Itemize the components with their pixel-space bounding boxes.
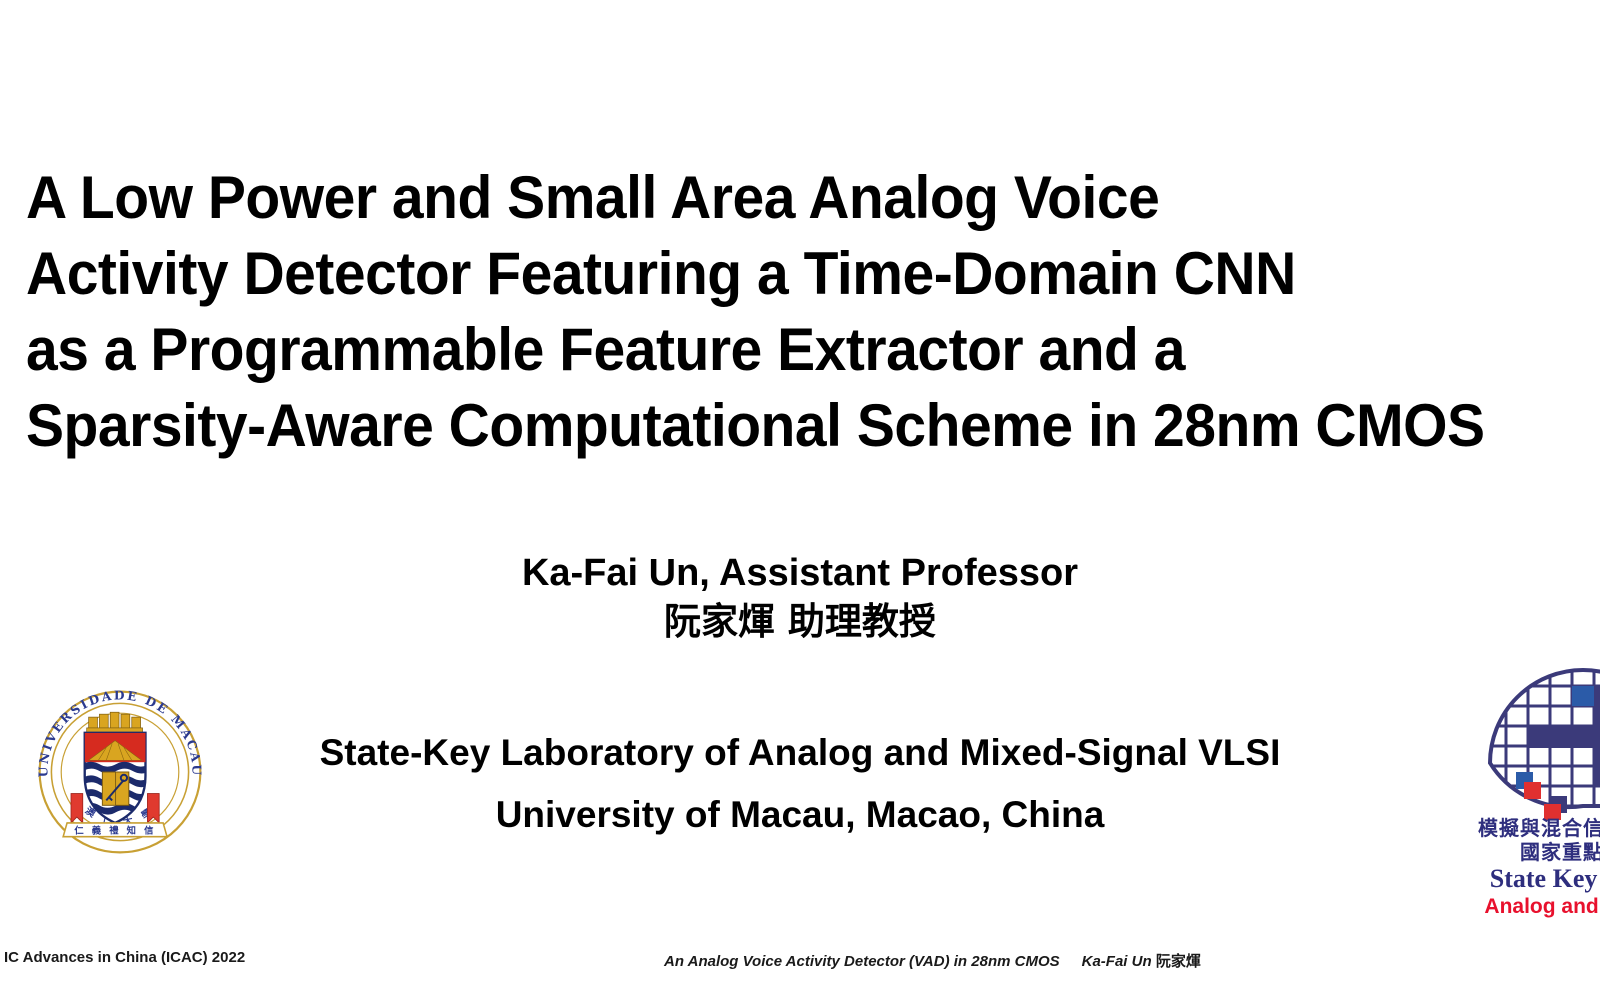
svg-text:仁 義 禮 知 信: 仁 義 禮 知 信 [74, 825, 155, 837]
title-line-1: A Low Power and Small Area Analog Voice [26, 160, 1600, 236]
state-key-lab-text: 模擬與混合信號超 國家重點 State Key La Analog and Mi… [1432, 816, 1600, 920]
title-line-2: Activity Detector Featuring a Time-Domai… [26, 236, 1600, 312]
author-block: Ka-Fai Un, Assistant Professor 阮家煇 助理教授 [0, 548, 1600, 646]
state-key-lab-logo: 模擬與混合信號超 國家重點 State Key La Analog and Mi… [1432, 668, 1600, 920]
wafer-grid-icon [1488, 668, 1600, 820]
title-line-3: as a Programmable Feature Extractor and … [26, 312, 1600, 388]
footer-author-chinese: 阮家煇 [1156, 952, 1201, 970]
university-of-macau-logo: UNIVERSIDADE DE MACAU 澳 門 大 學 [22, 672, 218, 872]
skl-chinese-line-2: 國家重點 [1432, 840, 1600, 864]
author-name-english: Ka-Fai Un, Assistant Professor [0, 548, 1600, 598]
skl-chinese-line-1: 模擬與混合信號超 [1432, 816, 1600, 840]
skl-english-line-1: State Key La [1432, 864, 1600, 894]
footer-title-text: An Analog Voice Activity Detector (VAD) … [664, 953, 1060, 970]
skl-english-line-2: Analog and Mix [1432, 894, 1600, 920]
affiliation-line-2: University of Macau, Macao, China [0, 784, 1600, 846]
footer-author-english: Ka-Fai Un [1082, 953, 1156, 970]
slide-canvas: A Low Power and Small Area Analog Voice … [0, 0, 1600, 1000]
affiliation-block: State-Key Laboratory of Analog and Mixed… [0, 722, 1600, 846]
footer-conference-name: IC Advances in China (ICAC) 2022 [4, 949, 245, 966]
author-name-chinese: 阮家煇 助理教授 [0, 598, 1600, 646]
slide-title: A Low Power and Small Area Analog Voice … [26, 160, 1600, 464]
footer-paper-title: An Analog Voice Activity Detector (VAD) … [664, 950, 1201, 971]
affiliation-line-1: State-Key Laboratory of Analog and Mixed… [0, 722, 1600, 784]
title-line-4: Sparsity-Aware Computational Scheme in 2… [26, 388, 1600, 464]
